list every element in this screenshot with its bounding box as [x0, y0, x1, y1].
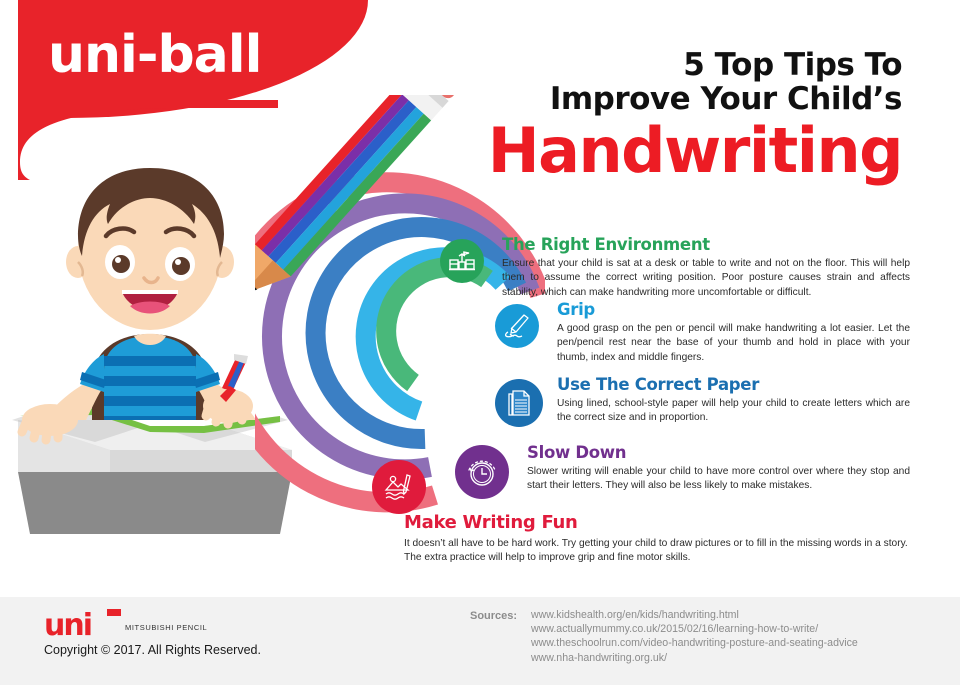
mitsubishi-pencil-label: MITSUBISHI PENCIL	[125, 623, 207, 632]
infographic-page: uni-ball 5 Top Tips To Improve Your Chil…	[0, 0, 960, 685]
title-highlight: Handwriting	[488, 118, 902, 184]
source-link[interactable]: www.kidshealth.org/en/kids/handwriting.h…	[531, 608, 858, 622]
source-link[interactable]: www.nha-handwriting.org.uk/	[531, 651, 858, 665]
sources-list: www.kidshealth.org/en/kids/handwriting.h…	[531, 608, 858, 665]
tip-item-3: Use The Correct Paper Using lined, schoo…	[495, 375, 910, 426]
clock-icon	[455, 445, 509, 499]
page-title: 5 Top Tips To Improve Your Child’s Handw…	[488, 48, 902, 184]
source-link[interactable]: www.theschoolrun.com/video-handwriting-p…	[531, 636, 858, 650]
tip-heading: Grip	[557, 300, 910, 319]
tip-body: It doesn’t all have to be hard work. Try…	[404, 537, 909, 566]
lined-paper-icon	[495, 379, 543, 427]
source-link[interactable]: www.actuallymummy.co.uk/2015/02/16/learn…	[531, 622, 858, 636]
tip-item-1: The Right Environment Ensure that your c…	[440, 235, 910, 300]
uniball-logo: uni-ball	[48, 22, 328, 88]
boy-body	[22, 168, 256, 440]
tip-body: A good grasp on the pen or pencil will m…	[557, 322, 910, 365]
tip-heading: Use The Correct Paper	[557, 375, 910, 394]
tip-body: Using lined, school-style paper will hel…	[557, 397, 910, 426]
sources-label: Sources:	[470, 610, 517, 622]
tip-heading: Make Writing Fun	[404, 512, 909, 534]
tip-body: Slower writing will enable your child to…	[527, 465, 910, 494]
tip-item-5: Make Writing Fun It doesn’t all have to …	[404, 512, 909, 566]
hand-writing-pen-icon	[495, 304, 539, 348]
uni-logo: uni	[44, 611, 91, 641]
copyright-text: Copyright © 2017. All Rights Reserved.	[44, 643, 261, 657]
drawing-picture-icon	[372, 460, 426, 514]
tip-heading: The Right Environment	[502, 235, 910, 254]
tip-item-2: Grip A good grasp on the pen or pencil w…	[495, 300, 910, 365]
tip-item-4: Slow Down Slower writing will enable you…	[455, 443, 910, 494]
title-line-2: Improve Your Child’s	[488, 82, 902, 116]
classroom-desk-icon	[440, 239, 484, 283]
boy-head	[66, 168, 234, 330]
title-line-1: 5 Top Tips To	[488, 48, 902, 82]
tip-body: Ensure that your child is sat at a desk …	[502, 257, 910, 300]
uni-logo-dot	[107, 609, 121, 616]
tip-heading: Slow Down	[527, 443, 910, 462]
